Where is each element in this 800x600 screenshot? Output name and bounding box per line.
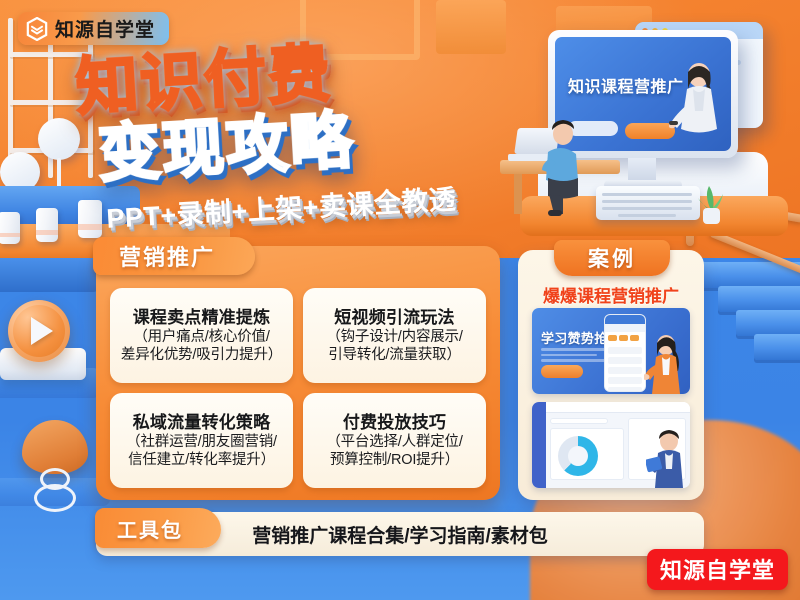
card-desc-line: （钩子设计/内容展示/ [326, 329, 462, 347]
card-desc-line: （平台选择/人群定位/ [326, 434, 462, 452]
card-desc-line: 预算控制/ROI提升） [326, 452, 462, 470]
card-title: 付费投放技巧 [343, 413, 446, 433]
play-icon [8, 300, 70, 362]
card-description: （钩子设计/内容展示/ 引导转化/流量获取） [326, 329, 462, 364]
card-description: （社群运营/朋友圈营销/ 信任建立/转化率提升） [126, 434, 277, 469]
hexagon-logo-icon [26, 17, 48, 41]
jar-prop-1 [0, 212, 20, 244]
platform-blue-2 [0, 258, 100, 292]
hero-3d-scene: 知识课程营推广 [500, 0, 800, 240]
monitor-stand [628, 158, 656, 182]
card-desc-line: 引导转化/流量获取） [326, 347, 462, 365]
card-desc-line: （社群运营/朋友圈营销/ [126, 434, 277, 452]
screenshot-text-lines [541, 348, 613, 365]
brand-logo-badge[interactable]: 知源自学堂 [18, 12, 169, 45]
disc-prop-1 [38, 118, 80, 160]
screenshot-cta-button [541, 365, 583, 378]
phone-mockup [604, 314, 646, 392]
card-title: 课程卖点精准提炼 [133, 308, 271, 328]
case-panel: 案例 爆爆课程营销推广 学习赞势抢中程 [518, 250, 704, 500]
plant-prop [696, 176, 726, 224]
jar-prop-2 [36, 208, 58, 242]
dashboard-widget [550, 418, 608, 424]
dashboard-sidebar [532, 402, 546, 488]
case-panel-headline: 爆爆课程营销推广 [518, 282, 704, 307]
card-title: 私域流量转化策略 [133, 413, 271, 433]
poster-canvas: 知识课程营推广 [0, 0, 800, 600]
man-at-desk-avatar [540, 112, 584, 217]
keyboard-prop [596, 186, 700, 220]
monitor-screen-title: 知识课程营推广 [568, 73, 684, 97]
funnel-ring-2 [34, 484, 76, 512]
stair-step-4 [754, 334, 800, 360]
case-panel-tab[interactable]: 案例 [554, 240, 670, 276]
marketing-card[interactable]: 私域流量转化策略 （社群运营/朋友圈营销/ 信任建立/转化率提升） [110, 393, 293, 488]
admin-dashboard-screenshot[interactable] [532, 402, 690, 488]
teacher-avatar [669, 59, 725, 151]
toolkit-tab-label: 工具包 [117, 514, 183, 543]
marketing-card[interactable]: 付费投放技巧 （平台选择/人群定位/ 预算控制/ROI提升） [303, 393, 486, 488]
card-desc-line: 差异化优势/吸引力提升） [121, 347, 282, 365]
marketing-panel-tab[interactable]: 营销推广 [93, 237, 255, 275]
desk-leg [514, 174, 522, 214]
footer-brand-label: 知源自学堂 [660, 558, 775, 583]
course-landing-page-screenshot[interactable]: 学习赞势抢中程 [532, 308, 690, 394]
marketing-card[interactable]: 短视频引流玩法 （钩子设计/内容展示/ 引导转化/流量获取） [303, 288, 486, 383]
card-desc-line: （用户痛点/核心价值/ [121, 329, 282, 347]
stair-step-3 [736, 310, 800, 336]
hero-title-group: 知识付费 变现攻略 PPT+录制+上架+卖课全教透 [76, 46, 496, 225]
marketing-card-grid: 课程卖点精准提炼 （用户痛点/核心价值/ 差异化优势/吸引力提升） 短视频引流玩… [110, 288, 486, 488]
marketing-card[interactable]: 课程卖点精准提炼 （用户痛点/核心价值/ 差异化优势/吸引力提升） [110, 288, 293, 383]
toolkit-bar: 营销推广课程合集/学习指南/素材包 工具包 [96, 512, 704, 556]
card-description: （用户痛点/核心价值/ 差异化优势/吸引力提升） [121, 329, 282, 364]
woman-presenter-avatar [644, 332, 688, 394]
card-title: 短视频引流玩法 [334, 308, 454, 328]
stair-step-2 [718, 286, 800, 312]
man-presenter-avatar [646, 428, 690, 488]
case-panel-tab-label: 案例 [588, 243, 636, 273]
card-desc-line: 信任建立/转化率提升） [126, 452, 277, 470]
footer-brand-badge[interactable]: 知源自学堂 [647, 549, 788, 590]
dashboard-topbar [546, 402, 690, 413]
marketing-panel: 营销推广 课程卖点精准提炼 （用户痛点/核心价值/ 差异化优势/吸引力提升） 短… [96, 246, 500, 500]
donut-chart-icon [558, 436, 598, 476]
card-description: （平台选择/人群定位/ 预算控制/ROI提升） [326, 434, 462, 469]
marketing-panel-tab-label: 营销推广 [119, 240, 215, 272]
brand-logo-label: 知源自学堂 [55, 15, 155, 42]
toolkit-tab[interactable]: 工具包 [95, 508, 221, 548]
monitor-primary-button [625, 123, 675, 139]
